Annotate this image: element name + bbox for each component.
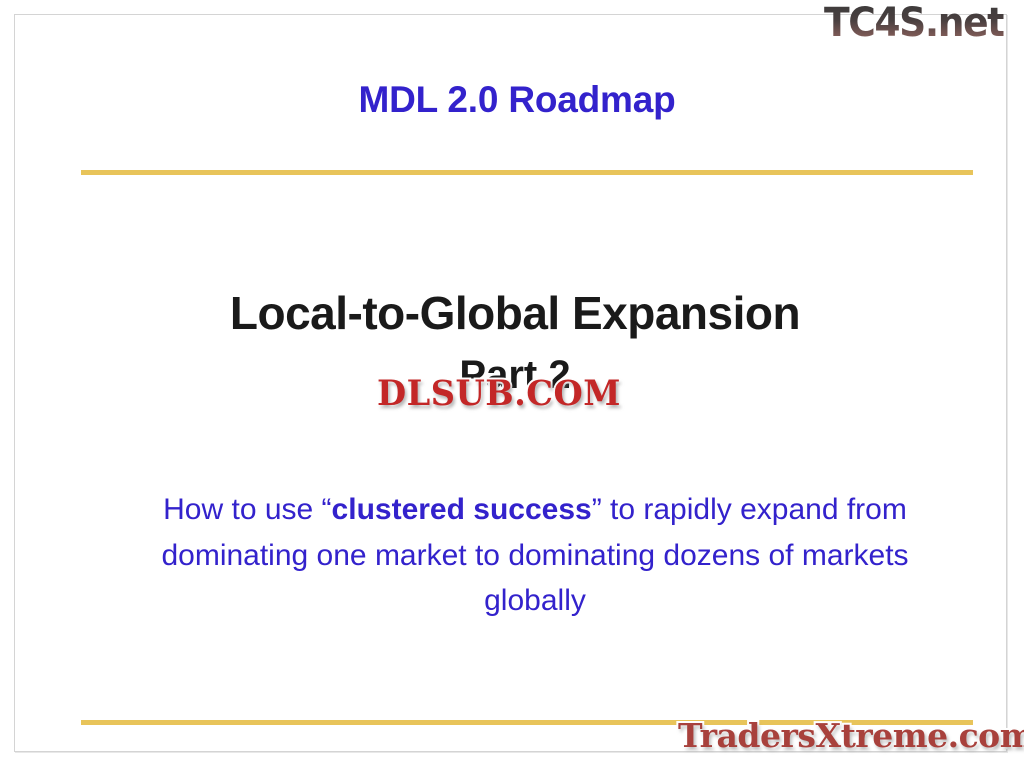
watermark-center: DLSUB.COM bbox=[377, 373, 621, 414]
body-text-emphasis: clustered success bbox=[332, 493, 592, 526]
slide-body-text: How to use “clustered success” to rapidl… bbox=[145, 487, 925, 624]
slide-frame: MDL 2.0 Roadmap Local-to-Global Expansio… bbox=[14, 14, 1007, 752]
watermark-top-right: TC4S.net bbox=[824, 0, 1004, 46]
watermark-bottom-right: TradersXtreme.com bbox=[678, 716, 1024, 755]
body-text-lead: How to use “ bbox=[163, 493, 331, 526]
headline-primary: Local-to-Global Expansion bbox=[55, 285, 975, 343]
page-title: MDL 2.0 Roadmap bbox=[67, 79, 967, 122]
divider-top bbox=[81, 170, 973, 175]
